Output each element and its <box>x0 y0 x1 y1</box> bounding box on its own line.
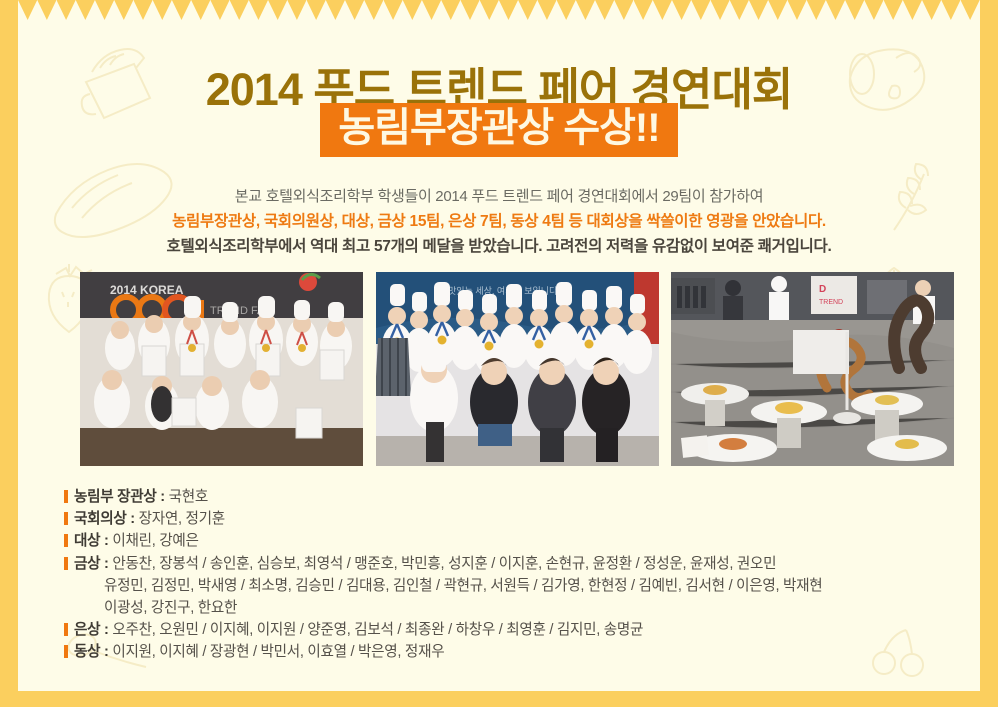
poster-sheet: 2014 푸드 트렌드 페어 경연대회 농림부장관상 수상!! 본교 호텔외식조… <box>18 0 980 691</box>
award-row: 은상 : 오주찬, 오원민 / 이지혜, 이지원 / 양준영, 김보석 / 최종… <box>64 619 940 641</box>
photo-gallery: 2014 KOREA TREND FAIR <box>80 272 954 466</box>
award-names: 국현호 <box>169 489 208 505</box>
photo-exhibition-display: D TREND <box>671 272 954 466</box>
award-label: 동상 : <box>74 644 109 660</box>
bullet-marker-icon <box>64 534 68 547</box>
bullet-marker-icon <box>64 645 68 658</box>
intro-paragraph: 본교 호텔외식조리학부 학생들이 2014 푸드 트렌드 페어 경연대회에서 2… <box>18 185 980 260</box>
photo-group-formal: 맛있는 세상, 여기가 보입니다 <box>376 272 659 466</box>
intro-line-3: 호텔외식조리학부에서 역대 최고 57개의 메달을 받았습니다. 고려전의 저력… <box>18 234 980 259</box>
award-names: 이지원, 이지혜 / 장광현 / 박민서, 이효열 / 박은영, 정재우 <box>112 644 444 660</box>
highlight-banner-wrap: 농림부장관상 수상!! <box>18 103 980 157</box>
award-label: 은상 : <box>74 622 109 638</box>
bullet-marker-icon <box>64 623 68 636</box>
zigzag-top-border <box>18 0 980 20</box>
award-names: 이채린, 강예은 <box>112 533 198 549</box>
intro-line-2: 농림부장관상, 국회의원상, 대상, 금상 15팀, 은상 7팀, 동상 4팀 … <box>18 209 980 234</box>
awards-list: 농림부 장관상 : 국현호 국회의상 : 장자연, 정기훈 대상 : 이채린, … <box>64 486 940 663</box>
award-row: 금상 : 안동찬, 장봉석 / 송인훈, 심승보, 최영석 / 맹준호, 박민흥… <box>64 553 940 620</box>
award-names: 오주찬, 오원민 / 이지혜, 이지원 / 양준영, 김보석 / 최종완 / 하… <box>112 622 643 638</box>
highlight-banner: 농림부장관상 수상!! <box>320 103 677 157</box>
award-row: 동상 : 이지원, 이지혜 / 장광현 / 박민서, 이효열 / 박은영, 정재… <box>64 641 940 663</box>
award-names: 안동찬, 장봉석 / 송인훈, 심승보, 최영석 / 맹준호, 박민흥, 성지훈… <box>112 556 776 572</box>
award-label: 대상 : <box>74 533 109 549</box>
award-names-continuation: 유정민, 김정민, 박새영 / 최소명, 김승민 / 김대용, 김인철 / 곽현… <box>64 575 940 597</box>
poster-root: 2014 푸드 트렌드 페어 경연대회 농림부장관상 수상!! 본교 호텔외식조… <box>0 0 998 707</box>
award-row: 대상 : 이채린, 강예은 <box>64 530 940 552</box>
bullet-marker-icon <box>64 512 68 525</box>
photo-group-celebration: 2014 KOREA TREND FAIR <box>80 272 363 466</box>
award-row: 농림부 장관상 : 국현호 <box>64 486 940 508</box>
bullet-marker-icon <box>64 490 68 503</box>
bullet-marker-icon <box>64 557 68 570</box>
intro-line-1: 본교 호텔외식조리학부 학생들이 2014 푸드 트렌드 페어 경연대회에서 2… <box>18 185 980 209</box>
award-row: 국회의상 : 장자연, 정기훈 <box>64 508 940 530</box>
award-label: 농림부 장관상 : <box>74 489 165 505</box>
award-names-continuation: 이광성, 강진구, 한요한 <box>64 597 940 619</box>
award-names: 장자연, 정기훈 <box>139 511 225 527</box>
award-label: 국회의상 : <box>74 511 135 527</box>
award-label: 금상 : <box>74 556 109 572</box>
